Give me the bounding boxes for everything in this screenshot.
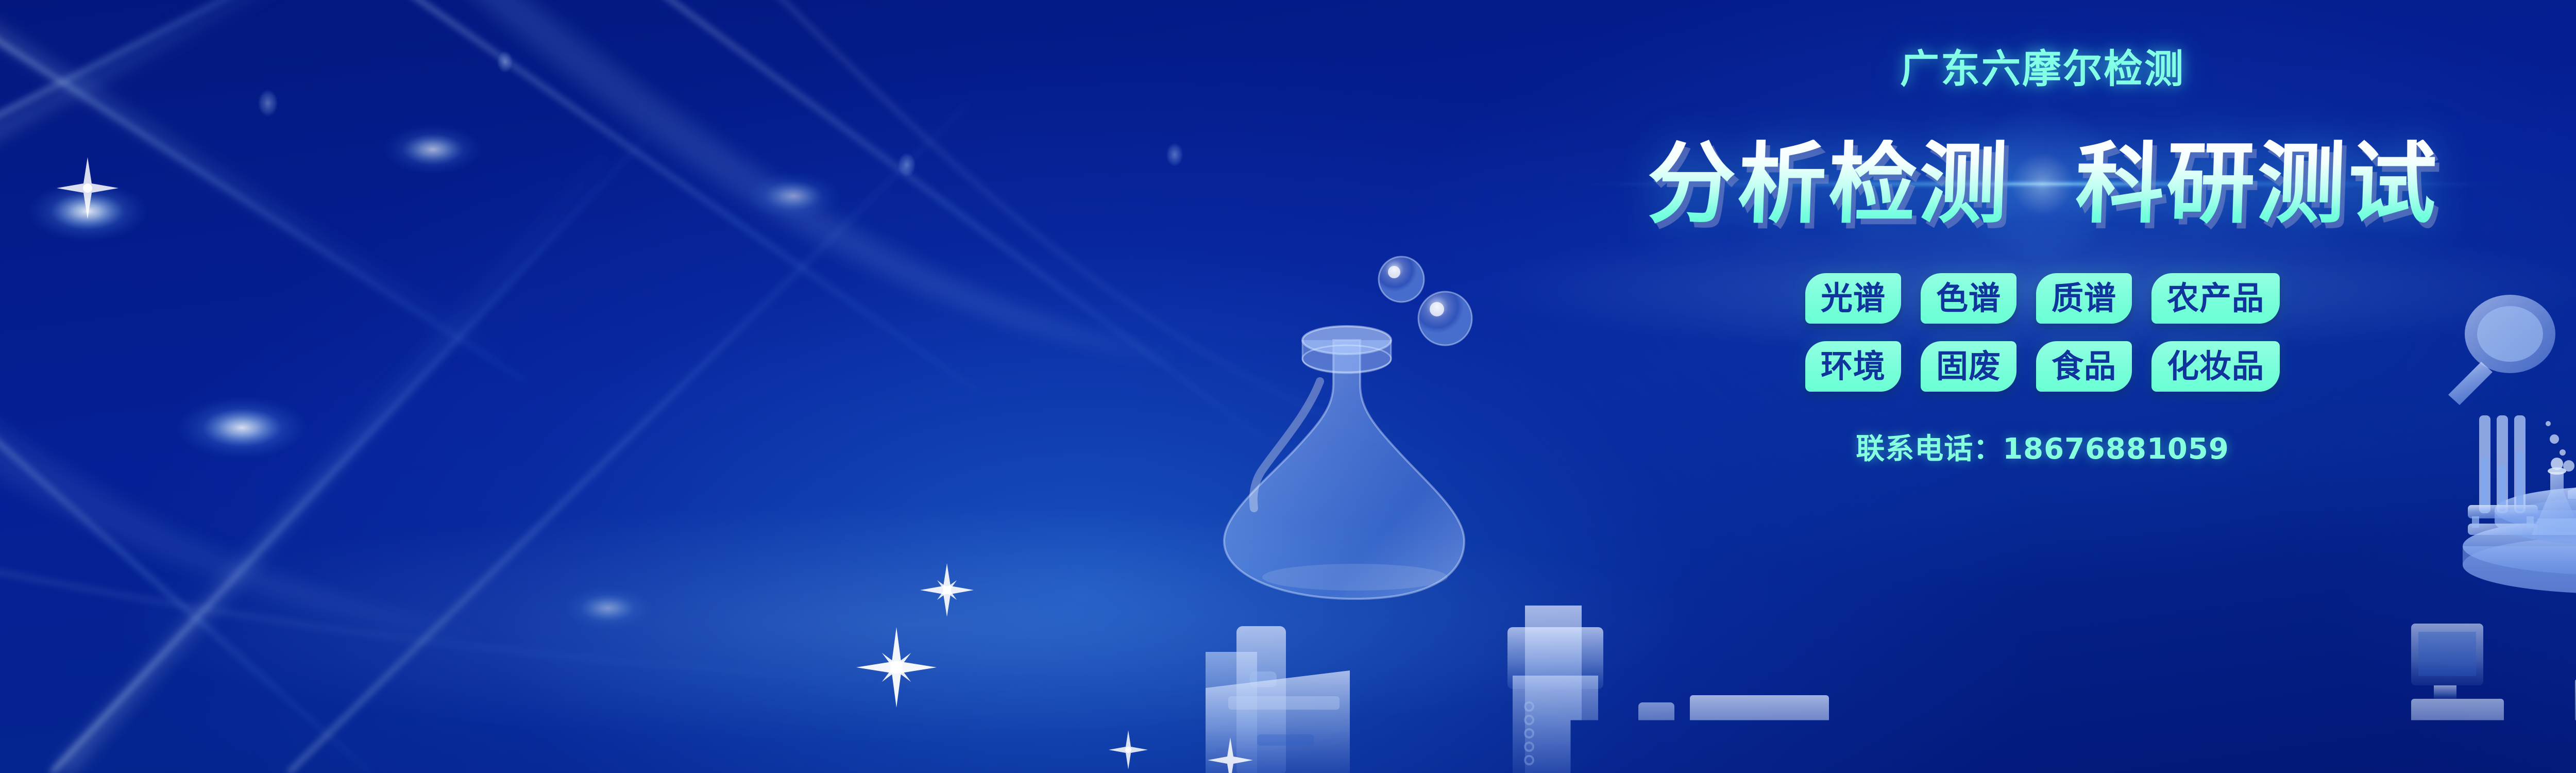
promo-banner: 广东六摩尔检测 分析检测 科研测试 光谱 色谱 质谱 农产品 [0, 0, 2576, 773]
brand-name: 广东六摩尔检测 [1900, 49, 2185, 89]
tag-row-1: 光谱 色谱 质谱 农产品 [1805, 273, 2280, 324]
tag-pill-food[interactable]: 食品 [2036, 341, 2132, 392]
tag-label: 质谱 [2052, 282, 2116, 314]
tag-pill-mass-spectrometry[interactable]: 质谱 [2036, 273, 2132, 324]
tag-label: 环境 [1821, 350, 1886, 382]
contact-phone[interactable]: 联系电话：18676881059 [1856, 426, 2229, 467]
tag-pill-environment[interactable]: 环境 [1805, 341, 1901, 392]
banner-content: 广东六摩尔检测 分析检测 科研测试 光谱 色谱 质谱 农产品 [0, 0, 2576, 773]
tag-pill-solid-waste[interactable]: 固废 [1921, 341, 2016, 392]
page-title: 分析检测 科研测试 [1646, 140, 2440, 228]
tag-row-2: 环境 固废 食品 化妆品 [1805, 341, 2280, 392]
tag-label: 色谱 [1936, 282, 2001, 314]
tag-pill-spectroscopy[interactable]: 光谱 [1805, 273, 1901, 324]
tag-pill-cosmetics[interactable]: 化妆品 [2151, 341, 2280, 392]
tag-label: 农产品 [2167, 282, 2264, 314]
tag-pill-agricultural-products[interactable]: 农产品 [2151, 273, 2280, 324]
headline-block: 分析检测 科研测试 [1647, 125, 2438, 243]
tag-label: 光谱 [1821, 282, 1886, 314]
tag-pill-chromatography[interactable]: 色谱 [1921, 273, 2016, 324]
tag-label: 化妆品 [2167, 350, 2264, 382]
tag-label: 固废 [1936, 350, 2001, 382]
service-tag-list: 光谱 色谱 质谱 农产品 环境 固废 [1805, 273, 2280, 392]
tag-label: 食品 [2052, 350, 2116, 382]
